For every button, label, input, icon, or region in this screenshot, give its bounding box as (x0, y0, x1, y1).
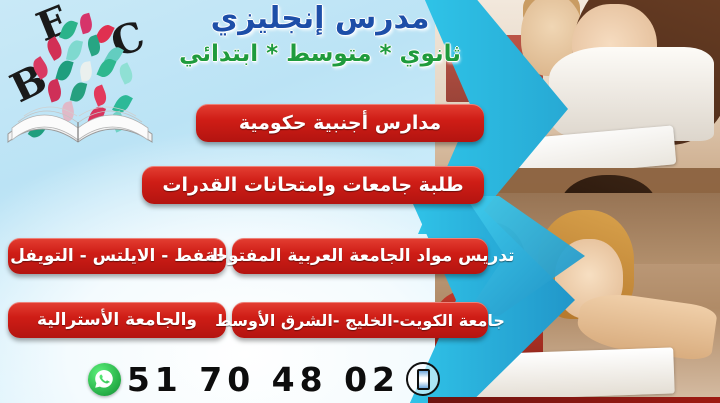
mobile-phone-icon (406, 362, 440, 396)
phone-number[interactable]: 51 70 48 02 (127, 360, 400, 399)
service-pill-oil-ielts-toefl: النفط - الايلتس - التويفل (8, 238, 226, 274)
service-pill-australian-university: والجامعة الأسترالية (8, 302, 226, 338)
book-tree-logo: E B C (4, 2, 156, 154)
service-pill-arab-open-university: تدريس مواد الجامعة العربية المفتوحة (232, 238, 488, 274)
service-pill-foreign-government-schools: مدارس أجنبية حكومية (196, 104, 484, 142)
whatsapp-icon[interactable] (88, 363, 121, 396)
service-pill-university-students-aptitude-exams: طلبة جامعات وامتحانات القدرات (142, 166, 484, 204)
photo-students-writing (435, 193, 720, 403)
advertisement-poster: E B C مدرس (0, 0, 720, 403)
open-book-icon (4, 72, 156, 150)
logo-leaf (78, 13, 95, 35)
bottom-accent-bar (428, 397, 720, 403)
contact-bar: 51 70 48 02 (0, 357, 440, 401)
headline-block: مدرس إنجليزي ثانوي * متوسط * ابتدائي (150, 2, 490, 68)
page-title: مدرس إنجليزي (150, 2, 490, 37)
service-pill-kuwait-gulf-middle-east-university: جامعة الكويت-الخليج -الشرق الأوسط (232, 302, 488, 338)
page-subtitle: ثانوي * متوسط * ابتدائي (150, 41, 490, 69)
